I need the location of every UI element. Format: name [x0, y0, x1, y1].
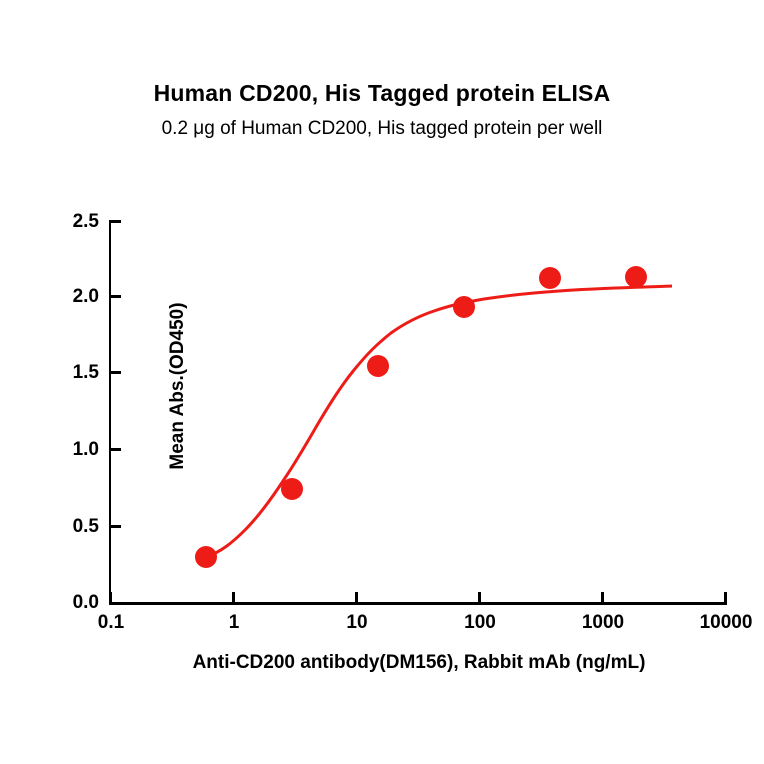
data-point — [281, 478, 303, 500]
y-tick-label: 1.0 — [29, 439, 99, 461]
x-tick-label: 1000 — [558, 612, 648, 634]
fit-curve — [206, 286, 672, 557]
y-tick-marks — [110, 222, 121, 604]
y-tick-label: 0.5 — [29, 516, 99, 538]
x-axis-label: Anti-CD200 antibody(DM156), Rabbit mAb (… — [49, 652, 764, 674]
y-tick-label: 2.5 — [29, 211, 99, 233]
x-tick-label: 1 — [189, 612, 279, 634]
axes-and-data — [109, 220, 727, 610]
x-tick-label: 10 — [312, 612, 402, 634]
x-tick-label: 0.1 — [66, 612, 156, 634]
chart-title: Human CD200, His Tagged protein ELISA — [0, 80, 764, 107]
data-point — [625, 266, 647, 288]
y-tick-label: 0.0 — [29, 592, 99, 614]
y-tick-label: 2.0 — [29, 286, 99, 308]
elisa-chart-figure: Human CD200, His Tagged protein ELISA 0.… — [0, 0, 764, 764]
x-tick-label: 10000 — [681, 612, 764, 634]
data-point — [367, 355, 389, 377]
data-point — [539, 267, 561, 289]
plot-area: 0.0 0.5 1.0 1.5 2.0 2.5 0.1 1 10 100 100… — [109, 220, 727, 605]
y-axis-label: Mean Abs.(OD450) — [167, 226, 189, 546]
x-tick-marks — [111, 592, 726, 603]
x-tick-label: 100 — [435, 612, 525, 634]
y-tick-label: 1.5 — [29, 362, 99, 384]
data-point — [195, 546, 217, 568]
data-point — [453, 296, 475, 318]
chart-subtitle: 0.2 μg of Human CD200, His tagged protei… — [0, 118, 764, 140]
data-points — [195, 266, 647, 568]
